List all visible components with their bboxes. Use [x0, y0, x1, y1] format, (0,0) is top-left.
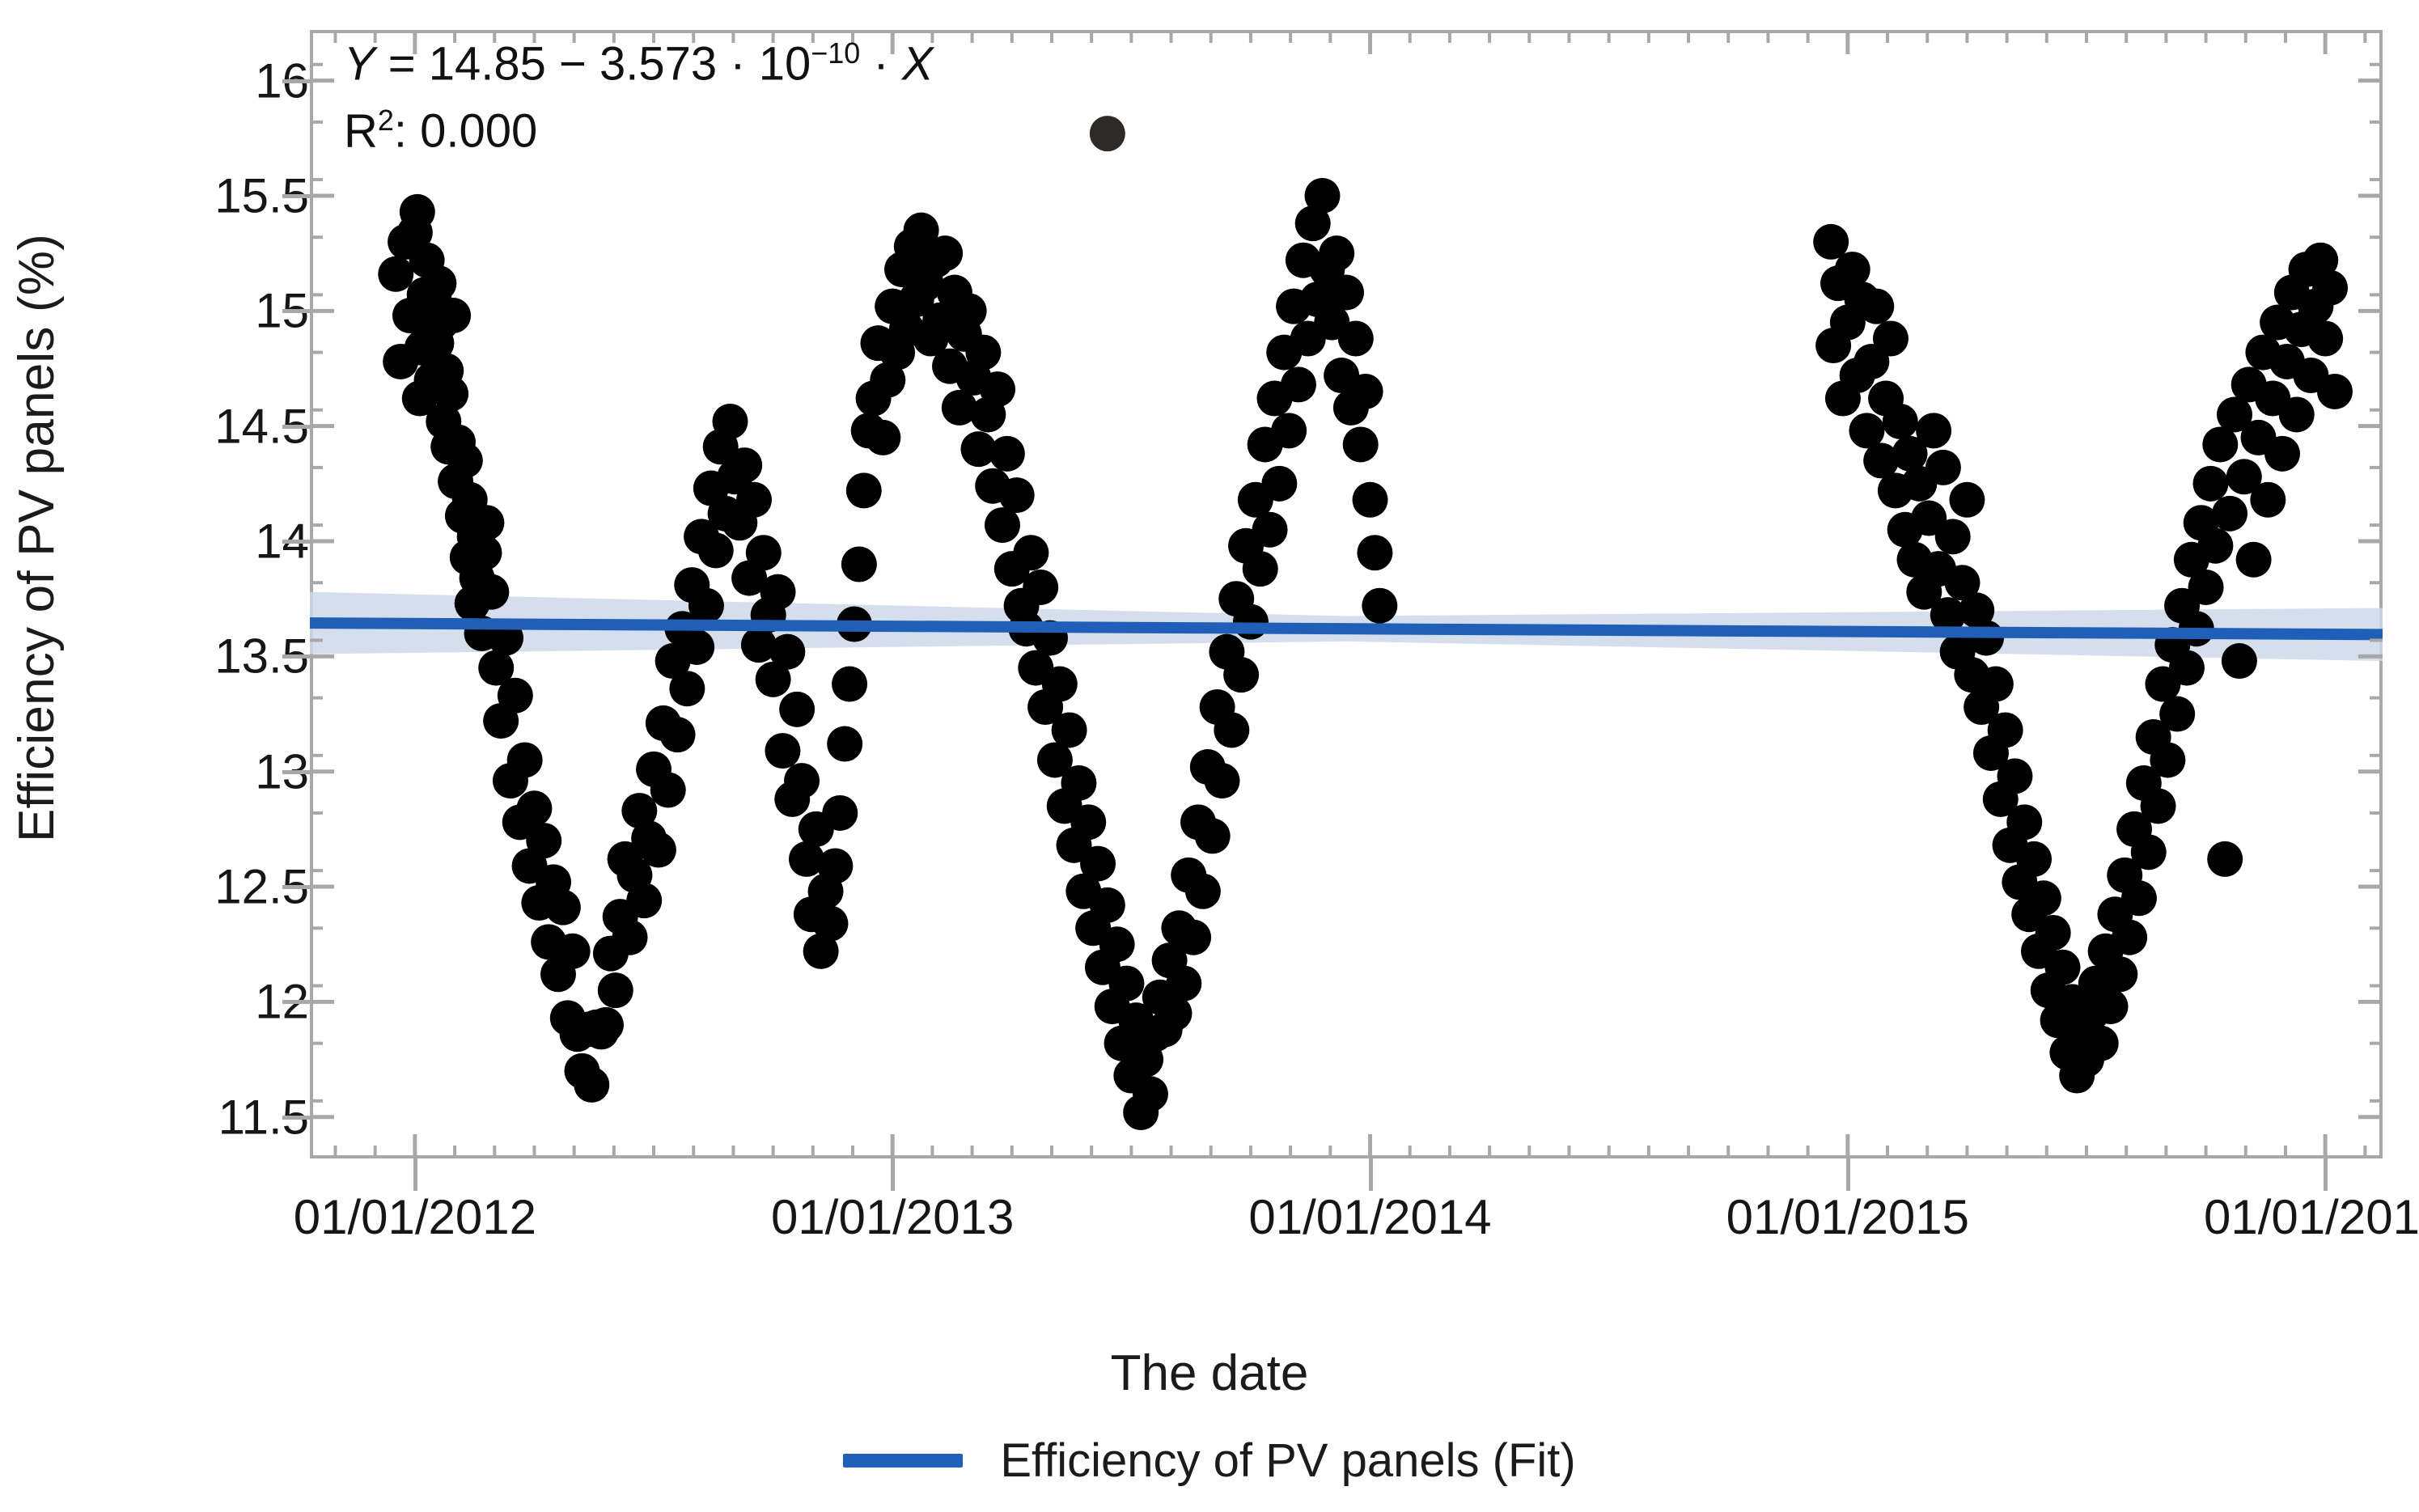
data-point — [435, 298, 471, 333]
y-tick-mark — [282, 770, 310, 774]
data-point — [1271, 413, 1307, 448]
data-point — [498, 678, 533, 714]
data-point — [1090, 887, 1125, 923]
legend: Efficiency of PV panels (Fit) — [0, 1434, 2419, 1488]
data-point — [2188, 570, 2224, 605]
data-point — [669, 671, 705, 706]
data-point — [769, 634, 805, 670]
y-tick-mark — [282, 1116, 310, 1120]
data-point — [1205, 763, 1240, 798]
data-point — [736, 482, 772, 518]
data-point — [698, 532, 734, 568]
data-point — [746, 535, 782, 570]
data-point — [827, 726, 862, 762]
data-point — [951, 293, 987, 328]
data-point — [817, 848, 853, 883]
data-point — [2159, 697, 2195, 732]
data-point — [1195, 818, 1231, 853]
data-point — [2016, 841, 2052, 877]
data-point — [598, 972, 633, 1008]
data-point — [1243, 551, 1278, 587]
x-tick-label: 01/01/2014 — [1248, 1189, 1491, 1245]
data-point — [1988, 712, 2023, 748]
data-point — [2222, 643, 2257, 679]
data-point — [999, 477, 1035, 513]
y-tick-mark — [282, 194, 310, 198]
data-point — [1319, 235, 1354, 271]
data-point — [927, 235, 963, 271]
y-tick-mark — [282, 540, 310, 544]
data-point — [2093, 989, 2129, 1024]
data-point — [2026, 880, 2061, 916]
x-tick-mark — [1369, 1158, 1373, 1191]
data-point — [2121, 880, 2157, 916]
data-point — [1252, 512, 1288, 548]
data-point — [574, 1067, 609, 1103]
data-point — [1176, 920, 1211, 955]
data-point — [1883, 404, 1918, 439]
y-tick-mark — [282, 309, 310, 313]
data-point — [1070, 804, 1106, 840]
chart-figure: Efficiency of PV panels (%) Y = 14.85 − … — [0, 0, 2419, 1512]
data-point — [688, 588, 724, 624]
data-point — [846, 472, 882, 508]
x-tick-mark — [891, 1158, 895, 1191]
plot-area — [310, 30, 2383, 1158]
x-axis-title: The date — [0, 1345, 2419, 1402]
data-point — [1013, 535, 1049, 570]
data-point — [626, 883, 662, 918]
data-point — [433, 376, 468, 412]
data-point — [980, 371, 1015, 407]
data-point — [2207, 841, 2243, 877]
x-tick-mark — [413, 1158, 417, 1191]
data-point — [1997, 758, 2032, 794]
data-point — [2250, 482, 2286, 518]
data-point — [1858, 289, 1894, 324]
data-point — [1348, 374, 1383, 409]
data-point — [865, 420, 900, 455]
data-point — [2307, 320, 2343, 356]
data-point — [2236, 542, 2272, 578]
data-point — [2141, 788, 2176, 824]
data-point — [468, 505, 504, 540]
data-point — [1099, 926, 1135, 962]
x-tick-label: 01/01/2016 — [2204, 1189, 2419, 1245]
data-point — [2150, 742, 2185, 777]
data-point — [1223, 657, 1259, 692]
data-point — [1166, 966, 1201, 1002]
regression-equation: Y = 14.85 − 3.573 · 10−10 · X — [344, 36, 933, 91]
data-point — [1214, 712, 1249, 748]
data-point — [2044, 950, 2080, 985]
data-point — [2036, 915, 2071, 951]
data-point — [2212, 496, 2247, 532]
data-point — [1061, 765, 1096, 801]
data-point — [1261, 466, 1297, 502]
data-point — [555, 934, 591, 969]
data-point — [400, 194, 435, 230]
data-point — [660, 717, 696, 752]
data-point — [812, 906, 848, 942]
data-point — [1281, 366, 1316, 402]
y-tick-mark — [282, 885, 310, 889]
outlier-point — [1090, 116, 1125, 151]
data-point — [1108, 966, 1144, 1002]
data-point — [1353, 482, 1388, 518]
data-point — [679, 629, 714, 665]
data-point — [650, 772, 686, 807]
data-point — [1328, 275, 1364, 311]
data-point — [784, 763, 820, 798]
y-tick-mark — [282, 425, 310, 429]
data-point — [1357, 535, 1392, 570]
data-point — [2006, 804, 2042, 840]
data-point — [2317, 374, 2353, 409]
data-point — [2312, 270, 2348, 306]
data-point — [421, 265, 456, 301]
data-point — [507, 742, 543, 777]
data-point — [1023, 570, 1058, 605]
plot-svg — [310, 30, 2383, 1158]
data-point — [1873, 320, 1909, 356]
y-tick-mark — [282, 1000, 310, 1004]
x-tick-label: 01/01/2015 — [1726, 1189, 1969, 1245]
data-point — [822, 795, 858, 831]
legend-line-swatch — [843, 1454, 963, 1468]
data-point — [516, 790, 552, 826]
data-point — [1925, 450, 1961, 485]
data-point — [1362, 588, 1397, 624]
data-point — [1133, 1076, 1168, 1112]
data-point — [2264, 436, 2300, 472]
data-point — [1233, 604, 1269, 640]
r-squared-annotation: R2: 0.000 — [344, 104, 537, 158]
data-point — [779, 692, 815, 727]
x-tick-mark — [1846, 1158, 1850, 1191]
data-point — [526, 823, 561, 858]
data-point — [1343, 426, 1379, 462]
data-point — [2279, 396, 2315, 432]
data-point — [1978, 667, 2014, 702]
data-point — [832, 667, 867, 702]
data-point — [1185, 874, 1221, 909]
data-point — [712, 404, 748, 439]
y-tick-mark — [282, 654, 310, 659]
data-point — [1338, 320, 1374, 356]
data-point — [2112, 920, 2147, 955]
data-point — [727, 447, 762, 483]
data-point — [545, 890, 581, 925]
y-tick-mark — [282, 79, 310, 83]
data-point — [2169, 650, 2205, 686]
data-point — [1042, 667, 1078, 702]
legend-label: Efficiency of PV panels (Fit) — [1000, 1434, 1575, 1488]
data-point — [965, 335, 1001, 371]
data-point — [1304, 178, 1340, 214]
data-point — [2102, 956, 2137, 992]
data-point — [2192, 466, 2228, 502]
data-point — [588, 1007, 624, 1043]
x-tick-label: 01/01/2012 — [294, 1189, 536, 1245]
data-point — [760, 574, 796, 610]
data-point — [641, 832, 676, 868]
data-point — [1935, 519, 1971, 554]
x-tick-label: 01/01/2013 — [771, 1189, 1014, 1245]
data-point — [473, 574, 509, 610]
x-tick-mark — [2324, 1158, 2328, 1191]
data-point — [765, 733, 800, 769]
data-point — [989, 436, 1025, 472]
data-point — [1916, 413, 1951, 448]
data-point — [1080, 846, 1116, 882]
data-point — [2197, 528, 2233, 564]
data-point — [1949, 482, 1985, 518]
data-point — [612, 920, 648, 955]
data-point — [378, 256, 413, 292]
y-axis-title: Efficiency of PV panels (%) — [0, 0, 73, 1076]
data-point — [1052, 712, 1087, 748]
data-point — [2083, 1026, 2119, 1061]
data-point — [2131, 834, 2167, 870]
data-point — [447, 443, 483, 478]
data-point — [841, 546, 877, 582]
